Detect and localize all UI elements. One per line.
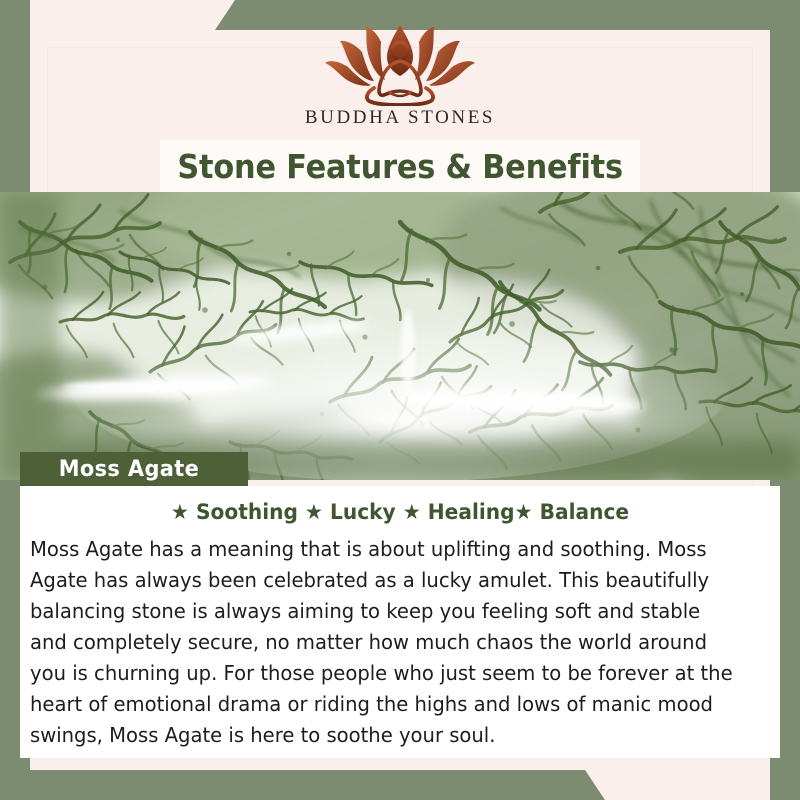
brand-name: BUDDHA STONES <box>305 107 495 129</box>
stone-description: Moss Agate has a meaning that is about u… <box>30 534 737 751</box>
frame-band-bottom <box>0 770 605 800</box>
title-banner: Stone Features & Benefits <box>160 140 640 192</box>
page-title: Stone Features & Benefits <box>177 147 623 186</box>
stone-name-tag: Moss Agate <box>20 452 248 486</box>
stone-features-line: ★ Soothing ★ Lucky ★ Healing★ Balance <box>35 486 765 524</box>
stone-info-panel: ★ Soothing ★ Lucky ★ Healing★ Balance Mo… <box>20 486 780 758</box>
hero-image <box>0 192 800 480</box>
brand-logo: BUDDHA STONES <box>0 22 800 140</box>
lotus-meditation-icon <box>307 22 493 106</box>
poster-root: BUDDHA STONES Stone Features & Benefits <box>0 0 800 800</box>
moss-agate-texture <box>0 192 800 480</box>
stone-name-label: Moss Agate <box>59 457 200 482</box>
